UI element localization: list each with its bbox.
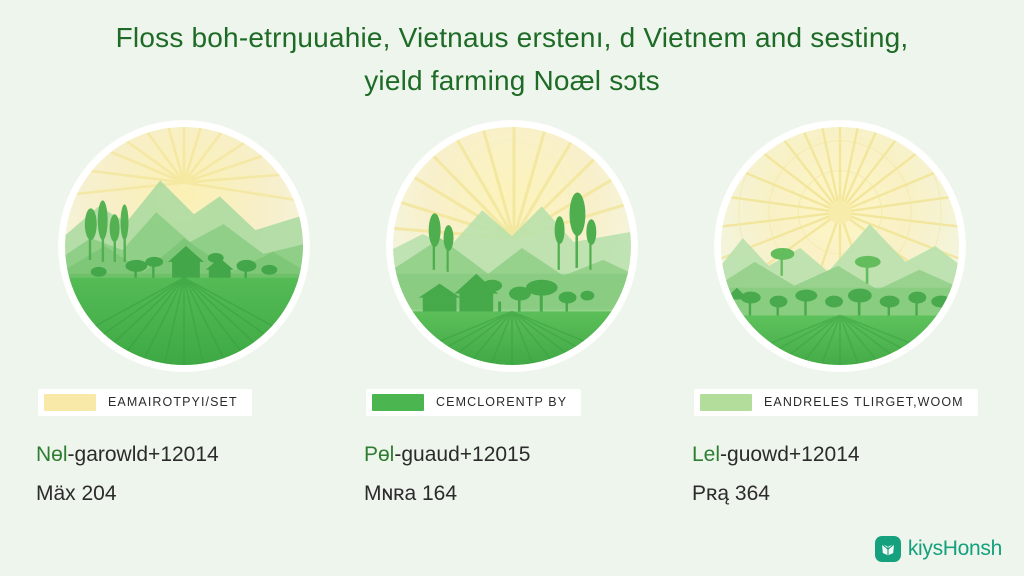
caption-1: Nɵl-garowld+12014 Mäx 204 (36, 436, 219, 514)
farm-landscape-illustration-1 (65, 127, 303, 365)
brand-logo[interactable]: kiysHonsh (875, 536, 1002, 562)
caption-head-rest-1: -garowld+12014 (68, 443, 219, 466)
panel-3: EANDRELES TLIRGET,WOOM Lel-guowd+12014 P… (680, 121, 1000, 514)
legend-label-1: EAMAIROTPYI/SET (108, 395, 238, 409)
legend-label-3: EANDRELES TLIRGET,WOOM (764, 395, 964, 409)
legend-3: EANDRELES TLIRGET,WOOM (694, 389, 978, 416)
legend-2: CEMCLORENTP BY (366, 389, 581, 416)
caption-head-rest-3: -guowd+12014 (720, 443, 860, 466)
caption-3: Lel-guowd+12014 Pʀą 364 (692, 436, 860, 514)
caption-head-rest-2: -guaud+12015 (394, 443, 530, 466)
caption-2: Pɵl-guaud+12015 Mɴʀa 164 (364, 436, 530, 514)
scene-frame-2 (387, 121, 637, 371)
caption-sub-1: Mäx 204 (36, 475, 219, 514)
legend-swatch-2 (372, 394, 424, 411)
caption-head-1: Nɵl-garowld+12014 (36, 436, 219, 475)
legend-1: EAMAIROTPYI/SET (38, 389, 252, 416)
caption-accent-3: Lel (692, 443, 720, 466)
caption-sub-2: Mɴʀa 164 (364, 475, 530, 514)
scene-frame-3 (715, 121, 965, 371)
panel-1: EAMAIROTPYI/SET Nɵl-garowld+12014 Mäx 20… (24, 121, 344, 514)
caption-head-2: Pɵl-guaud+12015 (364, 436, 530, 475)
farm-landscape-illustration-3 (721, 127, 959, 365)
caption-head-3: Lel-guowd+12014 (692, 436, 860, 475)
legend-label-2: CEMCLORENTP BY (436, 395, 567, 409)
farm-landscape-illustration-2 (393, 127, 631, 365)
scene-frame-1 (59, 121, 309, 371)
caption-accent-2: Pɵl (364, 443, 394, 466)
caption-accent-1: Nɵl (36, 443, 68, 466)
caption-sub-3: Pʀą 364 (692, 475, 860, 514)
page-title-line-2: yield farming Noæl sɔts (0, 59, 1024, 102)
cube-logo-icon (875, 536, 901, 562)
legend-swatch-3 (700, 394, 752, 411)
panel-row: EAMAIROTPYI/SET Nɵl-garowld+12014 Mäx 20… (0, 103, 1024, 514)
panel-2: CEMCLORENTP BY Pɵl-guaud+12015 Mɴʀa 164 (352, 121, 672, 514)
legend-swatch-1 (44, 394, 96, 411)
page-title: Floss boh-etrŋuuahie, Vietnaus erstenı, … (0, 0, 1024, 103)
brand-logo-text: kiysHonsh (908, 537, 1002, 561)
page-title-line-1: Floss boh-etrŋuuahie, Vietnaus erstenı, … (0, 16, 1024, 59)
